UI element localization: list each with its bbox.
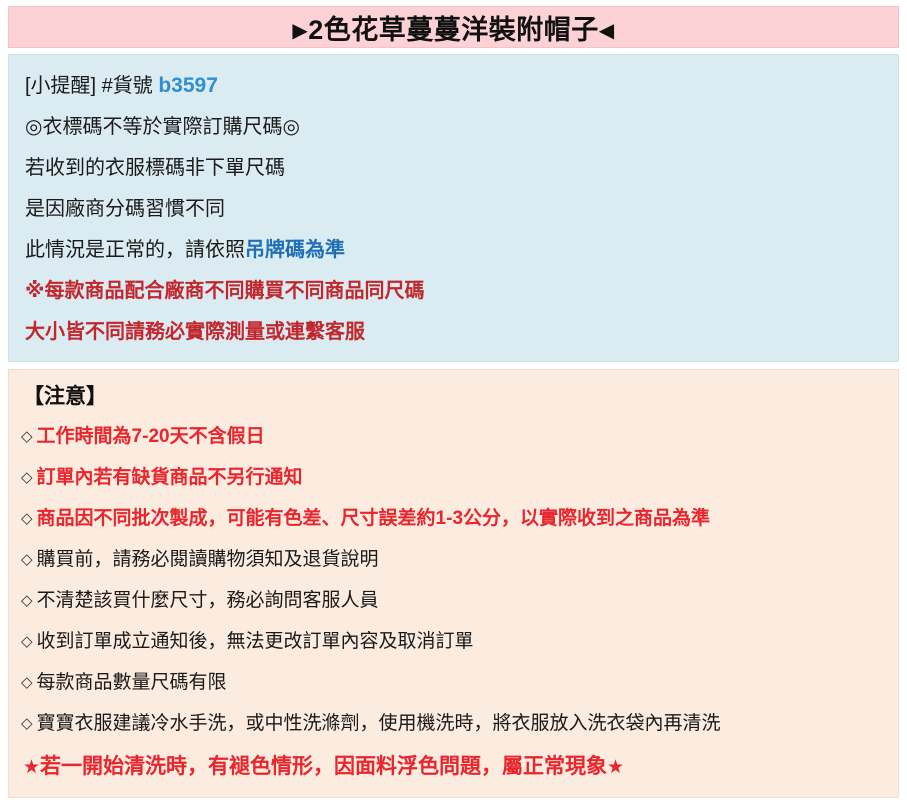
attention-item-1-text: 工作時間為7-20天不含假日 bbox=[37, 426, 265, 447]
attention-item-8-text: 寶寶衣服建議冷水手洗，或中性洗滌劑，使用機洗時，將衣服放入洗衣袋內再清洗 bbox=[37, 713, 721, 734]
diamond-bullet-icon: ◇ bbox=[21, 469, 33, 486]
attention-item-7: ◇每款商品數量尺碼有限 bbox=[9, 662, 898, 703]
attention-item-6: ◇收到訂單成立通知後，無法更改訂單內容及取消訂單 bbox=[9, 621, 898, 662]
hangtag-prefix: 此情況是正常的，請依照 bbox=[25, 239, 245, 261]
notice-line-2: 若收到的衣服標碼非下單尺碼 bbox=[9, 148, 898, 189]
star-left-icon: ★ bbox=[23, 757, 40, 778]
notice-red-line-1: ※每款商品配合廠商不同購買不同商品同尺碼 bbox=[9, 271, 898, 312]
diamond-bullet-icon: ◇ bbox=[21, 428, 33, 445]
page-title: ▶2色花草蔓蔓洋裝附帽子◀ bbox=[292, 8, 614, 47]
hangtag-highlight: 吊牌碼為準 bbox=[245, 239, 345, 261]
notice-line-1: ◎衣標碼不等於實際訂購尺碼◎ bbox=[9, 107, 898, 148]
attention-item-4-text: 購買前，請務必閱讀購物須知及退貨說明 bbox=[37, 549, 379, 570]
attention-item-6-text: 收到訂單成立通知後，無法更改訂單內容及取消訂單 bbox=[37, 631, 474, 652]
diamond-bullet-icon: ◇ bbox=[21, 633, 33, 650]
product-title-banner: ▶2色花草蔓蔓洋裝附帽子◀ bbox=[8, 6, 899, 48]
attention-item-5-text: 不清楚該買什麼尺寸，務必詢問客服人員 bbox=[37, 590, 379, 611]
attention-footer-text: 若一開始清洗時，有褪色情形，因面料浮色問題，屬正常現象 bbox=[40, 755, 607, 778]
diamond-bullet-icon: ◇ bbox=[21, 551, 33, 568]
attention-item-5: ◇不清楚該買什麼尺寸，務必詢問客服人員 bbox=[9, 580, 898, 621]
left-arrow-icon: ▶ bbox=[292, 20, 308, 42]
attention-heading: 【注意】 bbox=[9, 378, 898, 416]
right-arrow-icon: ◀ bbox=[599, 20, 615, 42]
product-code-value: b3597 bbox=[158, 74, 218, 97]
hangtag-notice-line: 此情況是正常的，請依照吊牌碼為準 bbox=[9, 230, 898, 271]
notice-red-line-2: 大小皆不同請務必實際測量或連繫客服 bbox=[9, 312, 898, 353]
attention-item-3: ◇商品因不同批次製成，可能有色差、尺寸誤差約1-3公分，以實際收到之商品為準 bbox=[9, 498, 898, 539]
diamond-bullet-icon: ◇ bbox=[21, 715, 33, 732]
attention-section: 【注意】 ◇工作時間為7-20天不含假日 ◇訂單內若有缺貨商品不另行通知 ◇商品… bbox=[8, 369, 899, 798]
attention-item-8: ◇寶寶衣服建議冷水手洗，或中性洗滌劑，使用機洗時，將衣服放入洗衣袋內再清洗 bbox=[9, 703, 898, 744]
attention-item-1: ◇工作時間為7-20天不含假日 bbox=[9, 416, 898, 457]
sizing-notice-section: [小提醒] #貨號 b3597 ◎衣標碼不等於實際訂購尺碼◎ 若收到的衣服標碼非… bbox=[8, 54, 899, 362]
diamond-bullet-icon: ◇ bbox=[21, 592, 33, 609]
diamond-bullet-icon: ◇ bbox=[21, 510, 33, 527]
tip-label: [小提醒] #貨號 bbox=[25, 75, 153, 97]
star-right-icon: ★ bbox=[607, 757, 624, 778]
notice-line-3: 是因廠商分碼習慣不同 bbox=[9, 189, 898, 230]
attention-item-2: ◇訂單內若有缺貨商品不另行通知 bbox=[9, 457, 898, 498]
product-code-line: [小提醒] #貨號 b3597 bbox=[9, 65, 898, 107]
attention-item-7-text: 每款商品數量尺碼有限 bbox=[37, 672, 227, 693]
diamond-bullet-icon: ◇ bbox=[21, 674, 33, 691]
attention-item-4: ◇購買前，請務必閱讀購物須知及退貨說明 bbox=[9, 539, 898, 580]
attention-item-3-text: 商品因不同批次製成，可能有色差、尺寸誤差約1-3公分，以實際收到之商品為準 bbox=[37, 508, 710, 529]
product-notice-page: ▶2色花草蔓蔓洋裝附帽子◀ [小提醒] #貨號 b3597 ◎衣標碼不等於實際訂… bbox=[0, 0, 907, 804]
attention-footer: ★若一開始清洗時，有褪色情形，因面料浮色問題，屬正常現象★ bbox=[9, 744, 898, 791]
page-title-text: 2色花草蔓蔓洋裝附帽子 bbox=[308, 15, 599, 45]
attention-item-2-text: 訂單內若有缺貨商品不另行通知 bbox=[37, 467, 303, 488]
